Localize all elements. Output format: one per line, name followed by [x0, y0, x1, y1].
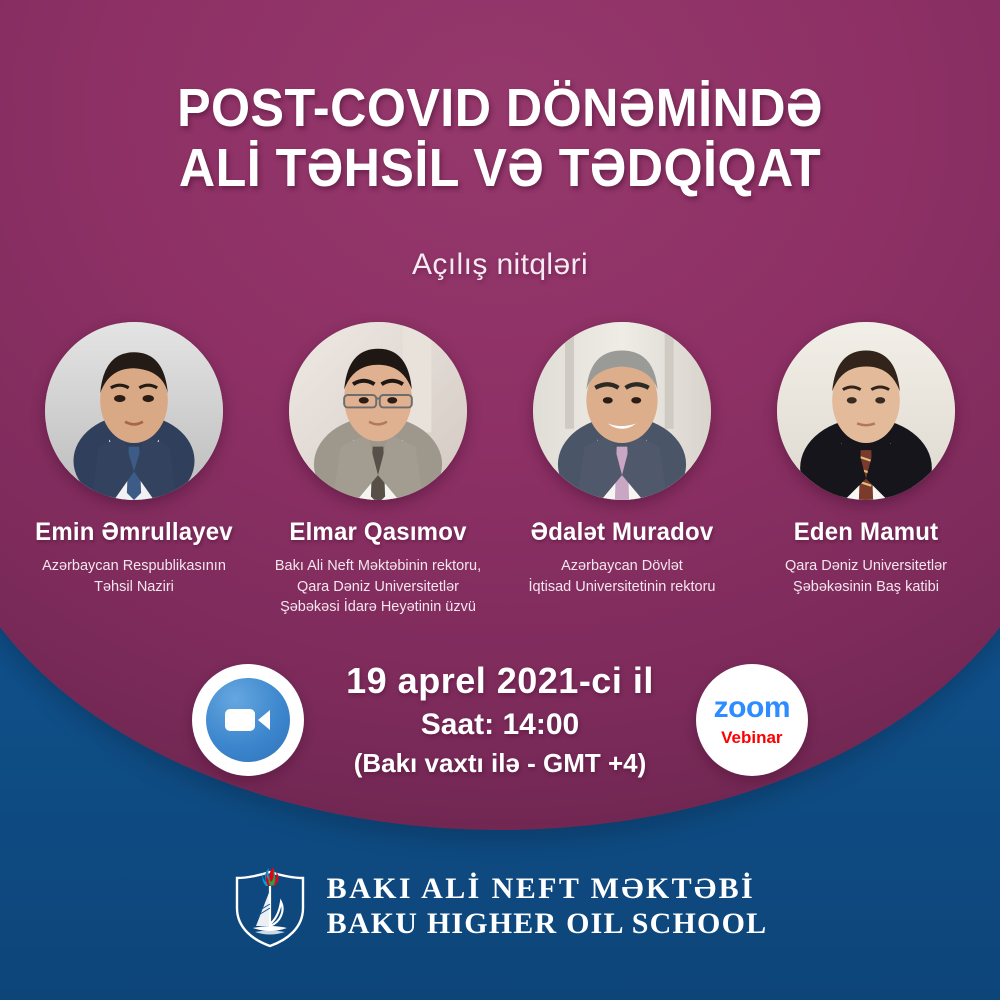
footer-logo: BAKI ALİ NEFT MƏKTƏBİ BAKU HIGHER OIL SC… [0, 864, 1000, 948]
speakers-list: Emin Əmrullayev Azərbaycan Respublikasın… [14, 322, 986, 618]
event-info-row: 19 aprel 2021-ci il Saat: 14:00 (Bakı va… [0, 660, 1000, 779]
speaker-role: Bakı Ali Neft Məktəbinin rektoru, Qara D… [258, 556, 498, 618]
speaker-name: Emin Əmrullayev [19, 518, 249, 547]
event-time: Saat: 14:00 [346, 708, 654, 742]
avatar [777, 322, 955, 500]
speaker-role: Azərbaycan Dövlət İqtisad Universitetini… [502, 556, 742, 597]
footer-text: BAKI ALİ NEFT MƏKTƏBİ BAKU HIGHER OIL SC… [327, 871, 768, 942]
avatar [289, 322, 467, 500]
subtitle: Açılış nitqləri [0, 248, 1000, 282]
footer-name-en: BAKU HIGHER OIL SCHOOL [327, 906, 768, 941]
speaker-role: Qara Dəniz Universitetlər Şəbəkəsinin Ba… [746, 556, 986, 597]
portrait-photo-icon [289, 322, 467, 500]
speaker-card: Emin Əmrullayev Azərbaycan Respublikasın… [14, 322, 254, 597]
footer-name-az: BAKI ALİ NEFT MƏKTƏBİ [327, 871, 768, 906]
portrait-photo-icon [777, 322, 955, 500]
speaker-role: Azərbaycan Respublikasının Təhsil Naziri [14, 556, 254, 597]
webinar-poster: POST-COVID DÖNƏMİNDƏ ALİ TƏHSİL VƏ TƏDQİ… [0, 0, 1000, 1000]
title-line-2: ALİ TƏHSİL VƏ TƏDQİQAT [35, 138, 965, 198]
portrait-photo-icon [45, 322, 223, 500]
speaker-name: Elmar Qasımov [263, 518, 493, 547]
speaker-name: Ədalət Muradov [507, 518, 737, 547]
zoom-logo-badge: zoom Vebinar [696, 664, 808, 776]
speaker-card: Elmar Qasımov Bakı Ali Neft Məktəbinin r… [258, 322, 498, 618]
zoom-webinar-label: Vebinar [721, 729, 782, 746]
speaker-card: Ədalət Muradov Azərbaycan Dövlət İqtisad… [502, 322, 742, 597]
event-date: 19 aprel 2021-ci il [346, 660, 654, 702]
video-camera-badge [192, 664, 304, 776]
speaker-name: Eden Mamut [751, 518, 981, 547]
event-datetime: 19 aprel 2021-ci il Saat: 14:00 (Bakı va… [346, 660, 654, 779]
speaker-card: Eden Mamut Qara Dəniz Universitetlər Şəb… [746, 322, 986, 597]
avatar [533, 322, 711, 500]
video-camera-circle [206, 678, 290, 762]
page-title: POST-COVID DÖNƏMİNDƏ ALİ TƏHSİL VƏ TƏDQİ… [0, 78, 1000, 199]
video-camera-icon [224, 704, 272, 736]
title-line-1: POST-COVID DÖNƏMİNDƏ [35, 78, 965, 138]
zoom-wordmark: zoom [714, 693, 790, 723]
bhos-shield-icon [233, 864, 307, 948]
portrait-photo-icon [533, 322, 711, 500]
event-timezone: (Bakı vaxtı ilə - GMT +4) [346, 748, 654, 779]
avatar [45, 322, 223, 500]
